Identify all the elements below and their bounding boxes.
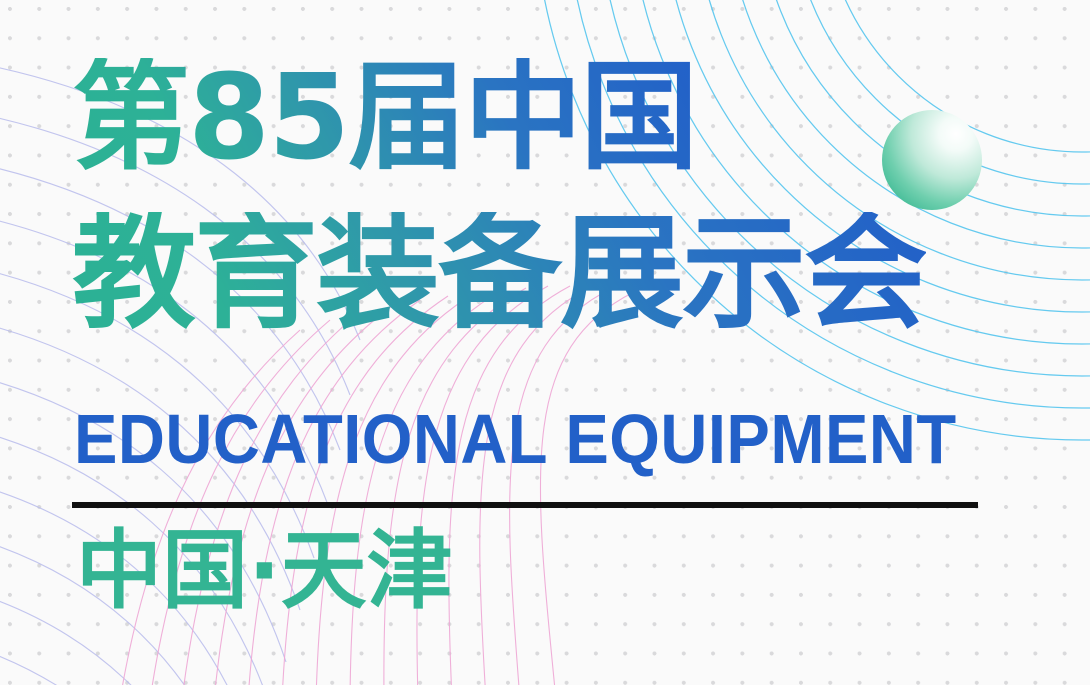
subtitle-english: EDUCATIONAL EQUIPMENT: [74, 404, 957, 474]
horizontal-rule: [72, 502, 978, 508]
headline-line-2: 教育装备展示会: [72, 212, 926, 336]
poster-content: 第85届中国 教育装备展示会 EDUCATIONAL EQUIPMENT 中国·…: [0, 0, 1090, 685]
headline-line-1: 第85届中国: [72, 58, 696, 176]
poster-canvas: 第85届中国 教育装备展示会 EDUCATIONAL EQUIPMENT 中国·…: [0, 0, 1090, 685]
location-label: 中国·天津: [76, 528, 453, 614]
